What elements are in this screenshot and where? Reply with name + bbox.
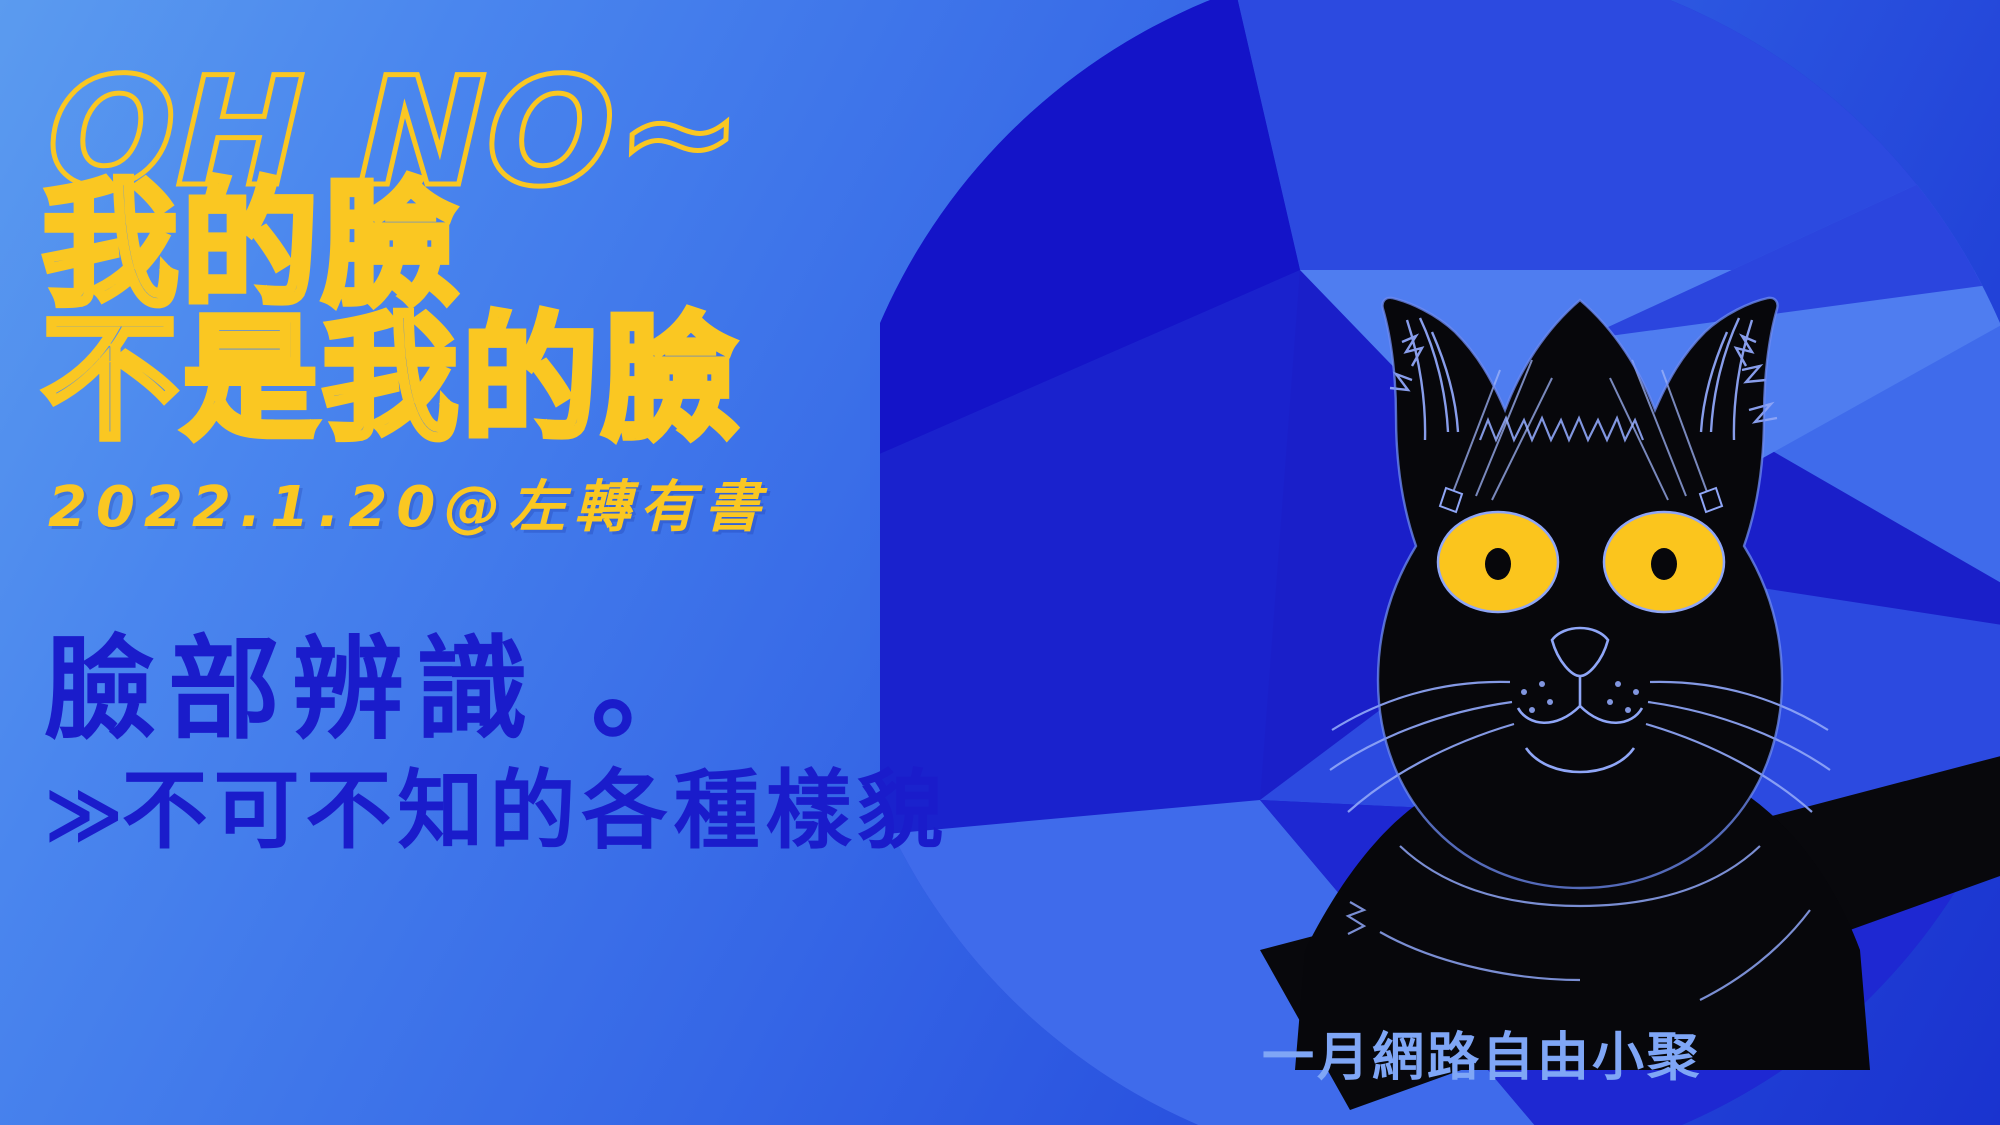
headline-cn-line-2: 不是我的臉	[42, 312, 742, 448]
headline-cn-line-1: 我的臉	[42, 178, 462, 314]
cat-eyes	[1438, 512, 1724, 612]
black-cat-face	[1295, 298, 1870, 1070]
double-chevron-icon: ≫	[44, 769, 118, 858]
headline-column: OH NO~ 我的臉 不是我的臉 2022.1.20@左轉有書 臉部辨識 。 ≫…	[0, 0, 1020, 1125]
cat-forehead-fur	[1480, 418, 1643, 440]
topic-subtitle-text: 不可不知的各種樣貌	[122, 761, 950, 861]
camera-aperture-artwork	[880, 0, 2000, 1125]
poster-canvas: OH NO~ 我的臉 不是我的臉 2022.1.20@左轉有書 臉部辨識 。 ≫…	[0, 0, 2000, 1125]
event-series-tag: 一月網路自由小聚	[1262, 1015, 1702, 1090]
cat-chest-fur	[1348, 846, 1810, 1000]
topic-subtitle-row: ≫不可不知的各種樣貌	[44, 768, 950, 854]
topic-title: 臉部辨識 。	[44, 630, 715, 751]
cat-head-sparkle-tips	[1440, 488, 1722, 512]
cat-muzzle	[1518, 628, 1642, 772]
date-and-venue: 2022.1.20@左轉有書	[48, 462, 769, 543]
aperture-blades	[880, 0, 2000, 1125]
cat-head-sparkle-lines	[1450, 360, 1710, 500]
cat-whiskers	[1330, 682, 1830, 812]
cat-muzzle-dots	[1521, 681, 1639, 713]
cat-ear-detail	[1390, 318, 1777, 440]
